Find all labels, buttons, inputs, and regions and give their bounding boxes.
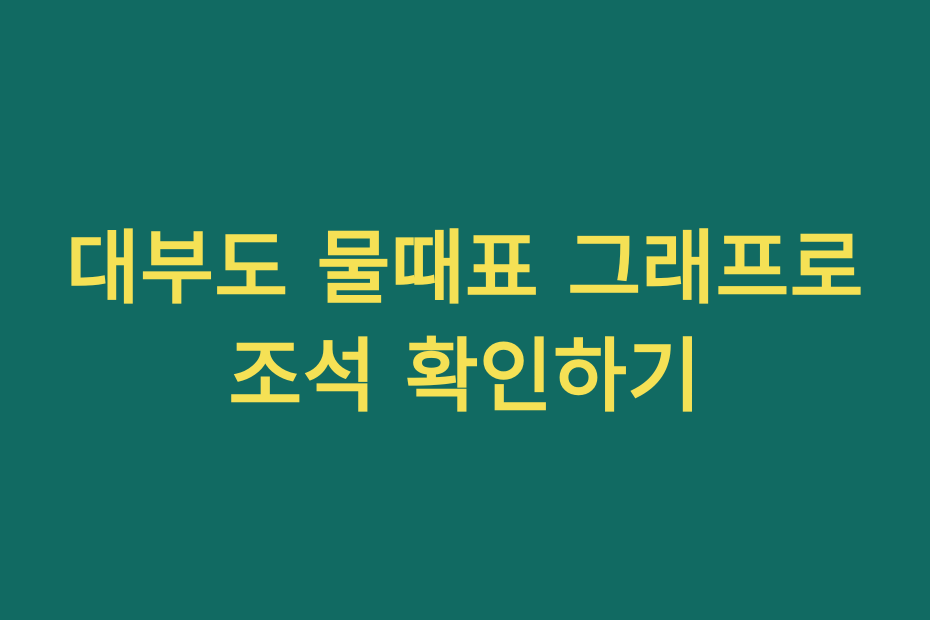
headline-block: 대부도 물때표 그래프로 조석 확인하기 bbox=[0, 215, 930, 431]
headline-line-1: 대부도 물때표 그래프로 bbox=[0, 215, 930, 323]
headline-line-2: 조석 확인하기 bbox=[0, 323, 930, 431]
title-banner: 대부도 물때표 그래프로 조석 확인하기 bbox=[0, 0, 930, 620]
